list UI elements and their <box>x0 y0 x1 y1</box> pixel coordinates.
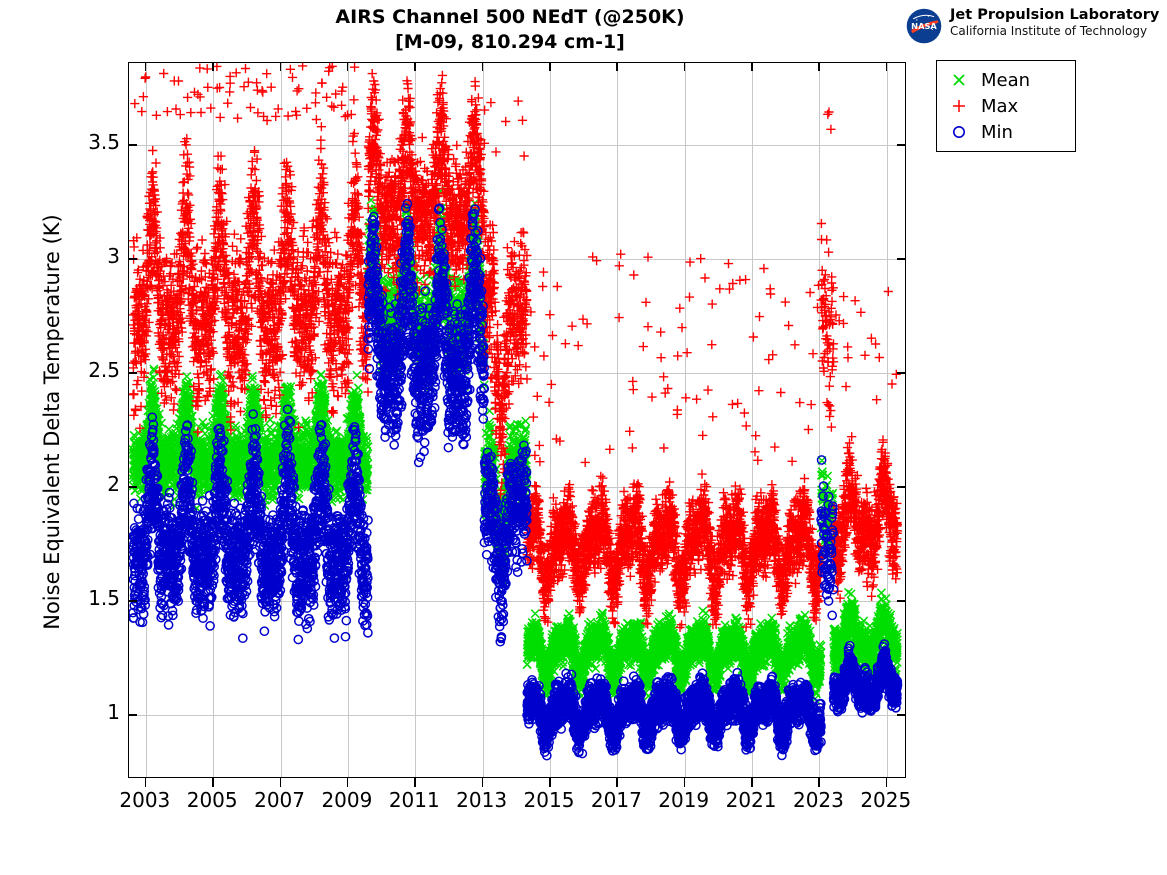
legend-item-max: Max <box>937 93 1075 119</box>
legend-label-mean: Mean <box>981 70 1030 91</box>
x-tick <box>616 778 618 787</box>
x-tick <box>347 778 349 787</box>
x-tick-top <box>818 62 820 71</box>
x-tick <box>280 778 282 787</box>
legend-marker-circle-icon <box>937 124 981 140</box>
y-tick-label: 2.5 <box>50 358 120 382</box>
x-tick-top <box>751 62 753 71</box>
x-tick <box>549 778 551 787</box>
scatter-plot <box>129 63 906 778</box>
legend-marker-plus-icon <box>937 98 981 114</box>
x-tick <box>414 778 416 787</box>
x-tick-top <box>886 62 888 71</box>
y-tick-label: 1 <box>50 700 120 724</box>
y-tick-right <box>897 258 906 260</box>
svg-text:NASA: NASA <box>911 21 937 31</box>
x-tick-label: 2025 <box>846 788 926 812</box>
x-tick <box>145 778 147 787</box>
y-tick <box>128 258 137 260</box>
y-tick <box>128 714 137 716</box>
y-tick <box>128 486 137 488</box>
x-tick-top <box>482 62 484 71</box>
y-tick-right <box>897 486 906 488</box>
x-tick-top <box>414 62 416 71</box>
y-tick-right <box>897 372 906 374</box>
x-tick-top <box>549 62 551 71</box>
x-tick <box>482 778 484 787</box>
page-title: AIRS Channel 500 NEdT (@250K) [M-09, 810… <box>168 5 852 55</box>
x-tick <box>751 778 753 787</box>
legend-item-mean: Mean <box>937 67 1075 93</box>
nasa-meatball-icon: NASA <box>906 8 942 44</box>
nasa-jpl-logo: NASA Jet Propulsion Laboratory Californi… <box>906 6 1161 46</box>
y-tick-right <box>897 714 906 716</box>
y-tick-right <box>897 600 906 602</box>
jpl-logo-text: Jet Propulsion Laboratory California Ins… <box>950 7 1160 39</box>
y-tick-label: 3 <box>50 244 120 268</box>
y-tick-label: 3.5 <box>50 130 120 154</box>
plot-area <box>128 62 906 778</box>
y-axis-title: Noise Equivalent Delta Temperature (K) <box>40 102 64 742</box>
y-tick-right <box>897 144 906 146</box>
x-tick-top <box>280 62 282 71</box>
x-tick <box>684 778 686 787</box>
x-tick-top <box>212 62 214 71</box>
y-tick-label: 2 <box>50 472 120 496</box>
y-tick <box>128 144 137 146</box>
legend-label-max: Max <box>981 96 1018 117</box>
x-tick-top <box>347 62 349 71</box>
x-tick <box>818 778 820 787</box>
y-tick <box>128 600 137 602</box>
y-tick-label: 1.5 <box>50 586 120 610</box>
jpl-title: Jet Propulsion Laboratory <box>950 7 1160 24</box>
x-tick <box>886 778 888 787</box>
x-tick-top <box>684 62 686 71</box>
y-tick <box>128 372 137 374</box>
x-tick <box>212 778 214 787</box>
x-tick-top <box>616 62 618 71</box>
jpl-subtitle: California Institute of Technology <box>950 24 1160 39</box>
legend-label-min: Min <box>981 122 1013 143</box>
x-tick-top <box>145 62 147 71</box>
title-line-1: AIRS Channel 500 NEdT (@250K) <box>168 5 852 30</box>
chart-legend: Mean Max Min <box>936 60 1076 152</box>
legend-item-min: Min <box>937 119 1075 145</box>
title-line-2: [M-09, 810.294 cm-1] <box>168 30 852 55</box>
chart-page: AIRS Channel 500 NEdT (@250K) [M-09, 810… <box>0 0 1167 875</box>
legend-marker-x-icon <box>937 72 981 88</box>
